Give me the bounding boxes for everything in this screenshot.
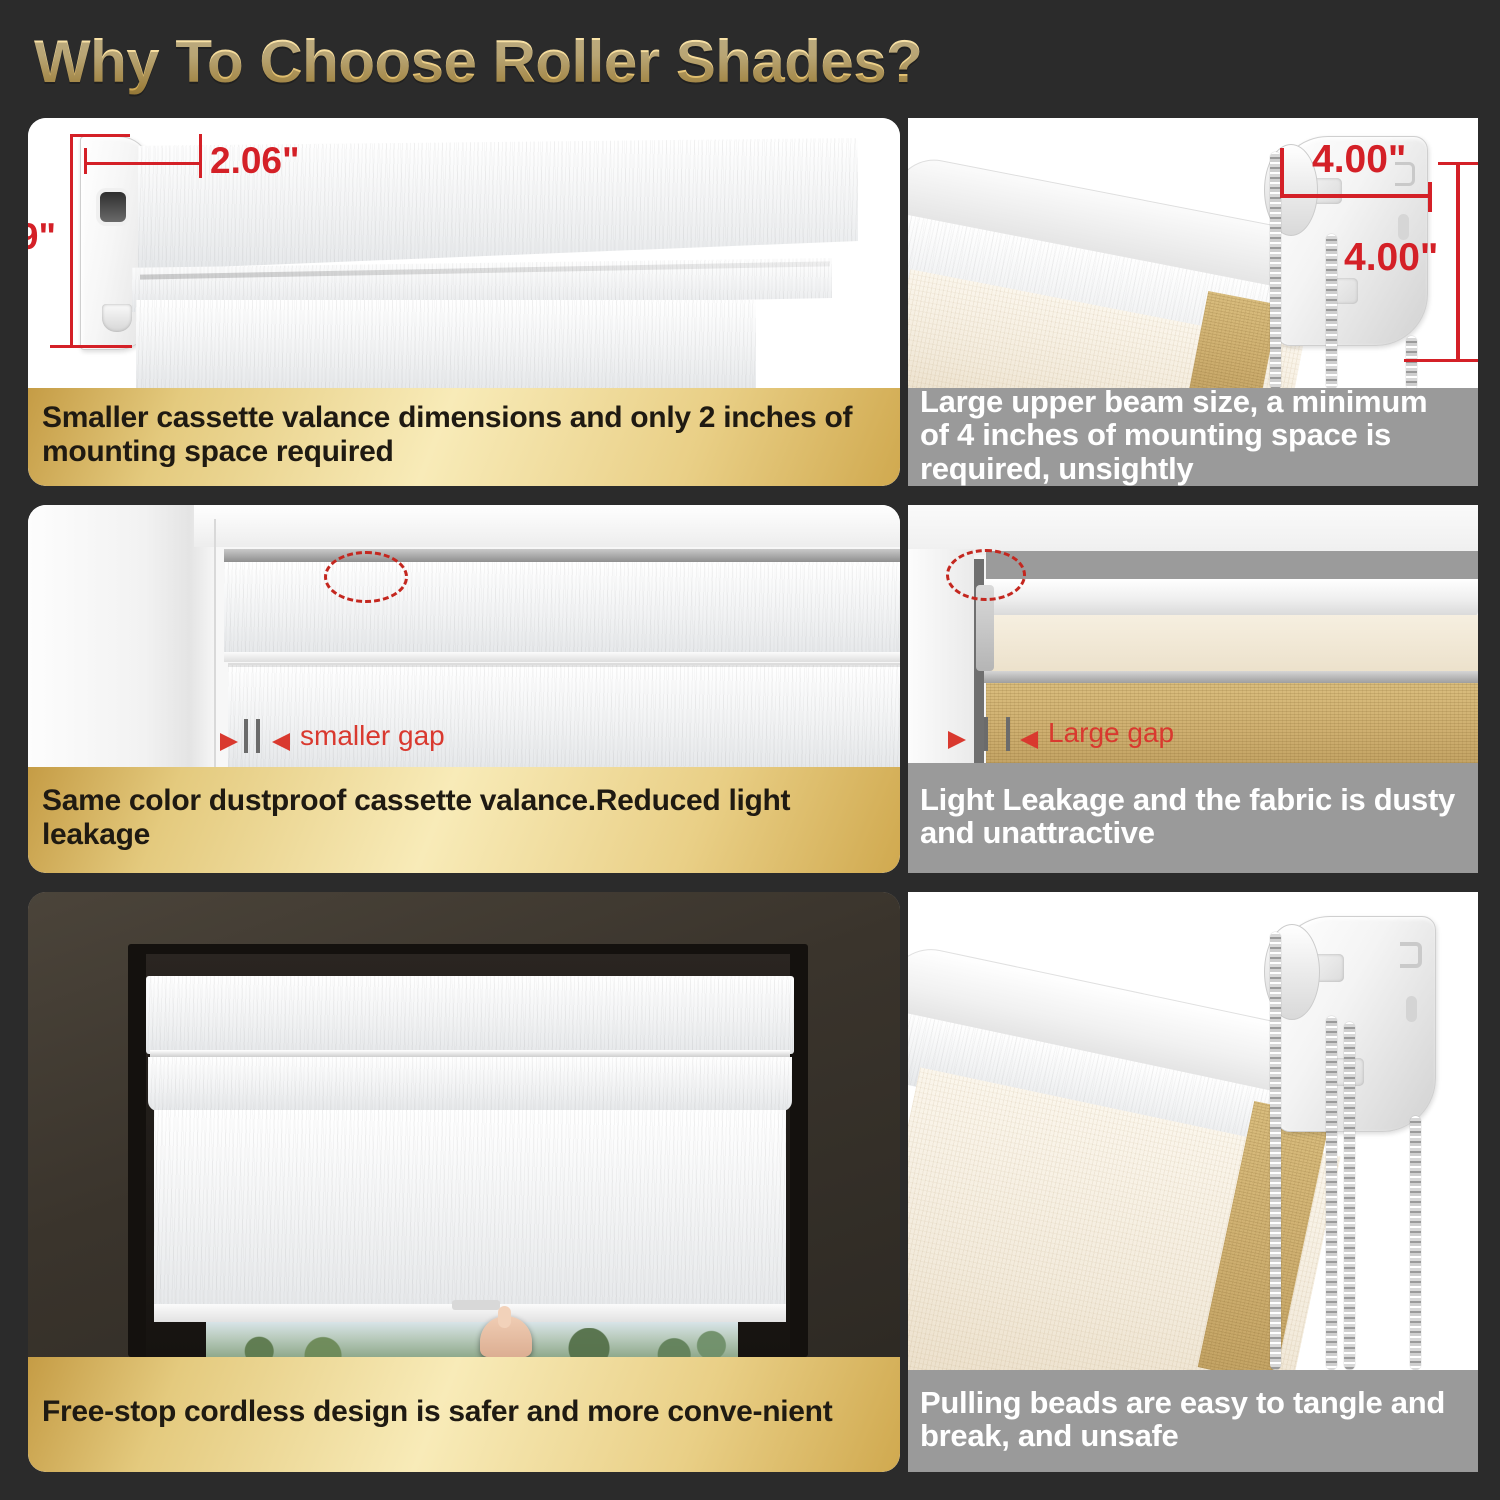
- dim-height-tick-bottom: [50, 345, 132, 348]
- dim-height-tick-top: [70, 134, 130, 137]
- panel-3-photo: smaller gap: [28, 505, 900, 767]
- dim-side-label: 4.00": [1344, 236, 1438, 280]
- panel-4-caption-text: Light Leakage and the fabric is dusty an…: [920, 783, 1464, 850]
- bead-chain-long-1[interactable]: [1270, 932, 1281, 1370]
- dim-top-label: 4.00": [1312, 138, 1406, 182]
- bead-chain-3[interactable]: [1406, 336, 1417, 390]
- window-frame-top: [194, 505, 900, 547]
- valance-bottom-edge: [224, 652, 900, 662]
- fabric-bottom-rail: [980, 671, 1478, 683]
- panel-1-caption-bar: Smaller cassette valance dimensions and …: [28, 388, 900, 486]
- dim-side-tick-bottom: [1404, 359, 1478, 362]
- dim-height-line: [70, 134, 73, 348]
- wall-area: [908, 505, 1478, 555]
- large-gap-tick-a: [984, 717, 988, 751]
- dim-side-line: [1456, 162, 1460, 362]
- panel-light-leakage: Large gap Light Leakage and the fabric i…: [908, 505, 1478, 873]
- panel-6-caption-text: Pulling beads are easy to tangle and bre…: [920, 1386, 1464, 1453]
- gap-highlight-circle: [324, 551, 408, 603]
- valance-headrail: [146, 976, 794, 1054]
- panel-5-photo: [28, 892, 900, 1357]
- large-gap-arrow-left-icon: [948, 731, 966, 749]
- panel-6-caption-bar: Pulling beads are easy to tangle and bre…: [908, 1370, 1478, 1472]
- gap-highlight-ellipse: [946, 549, 1026, 601]
- panel-3-caption-bar: Same color dustproof cassette valance.Re…: [28, 767, 900, 873]
- dim-side-tick-top: [1438, 162, 1478, 165]
- large-gap-label: Large gap: [1048, 717, 1174, 749]
- bead-chain-long-2[interactable]: [1326, 1016, 1337, 1370]
- title-bar: Why To Choose Roller Shades?: [34, 22, 1134, 102]
- dim-width-label: 2.06": [210, 140, 300, 182]
- roller-tube-bar: [984, 579, 1478, 617]
- hand-finger-icon: [498, 1306, 511, 1328]
- end-cap-lower-knob-icon: [102, 304, 132, 332]
- panel-dustproof-valance: smaller gap Same color dustproof cassett…: [28, 505, 900, 873]
- beige-fabric-band: [980, 615, 1478, 673]
- dim-height-label: 5.49": [28, 216, 56, 258]
- panel-3-caption-text: Same color dustproof cassette valance.Re…: [42, 784, 886, 852]
- panel-4-caption-bar: Light Leakage and the fabric is dusty an…: [908, 763, 1478, 873]
- panel-1-caption-text: Smaller cassette valance dimensions and …: [42, 401, 886, 469]
- fabric-fold-line: [228, 663, 900, 667]
- page-title: Why To Choose Roller Shades?: [34, 22, 1134, 102]
- panel-2-caption-text: Large upper beam size, a minimum of 4 in…: [920, 385, 1464, 485]
- dim-width-tick-right: [199, 134, 202, 178]
- panel-large-upper-beam: 4.00" 4.00" Large upper beam size, a min…: [908, 118, 1478, 486]
- gap-tick-a: [244, 719, 248, 753]
- dim-width-line: [84, 162, 202, 165]
- headrail-bar: [224, 549, 900, 562]
- bead-chain-long-3[interactable]: [1344, 1022, 1355, 1370]
- shade-fabric-top: [136, 300, 756, 390]
- panel-2-photo: 4.00" 4.00": [908, 118, 1478, 390]
- panel-cordless-design: Free-stop cordless design is safer and m…: [28, 892, 900, 1472]
- panel-4-photo: Large gap: [908, 505, 1478, 763]
- gap-arrow-left-icon: [220, 733, 238, 751]
- dim-top-tick-left: [1280, 148, 1284, 198]
- gap-arrow-right-icon: [272, 733, 290, 751]
- bead-chain-long-4[interactable]: [1410, 1116, 1421, 1370]
- valance-seam-line: [150, 1050, 790, 1057]
- window-frame-left: [28, 505, 216, 767]
- smaller-gap-label: smaller gap: [300, 720, 445, 752]
- frame-bevel-line: [214, 519, 216, 767]
- valance-lower-lip: [148, 1057, 792, 1111]
- panel-5-caption-text: Free-stop cordless design is safer and m…: [42, 1395, 832, 1429]
- panel-2-caption-bar: Large upper beam size, a minimum of 4 in…: [908, 388, 1478, 486]
- shade-pull-tab-icon: [452, 1300, 500, 1310]
- end-cap-slot-icon: [100, 192, 126, 222]
- bracket-notch-icon-2: [1406, 996, 1417, 1022]
- panel-1-photo: 2.06" 5.49": [28, 118, 900, 390]
- tree-foliage: [206, 1328, 738, 1357]
- panel-6-photo: [908, 892, 1478, 1370]
- shade-fabric-main: [154, 1110, 786, 1310]
- gap-tick-b: [256, 719, 260, 753]
- bracket-notch-icon-1: [1400, 942, 1422, 968]
- large-gap-tick-b: [1006, 717, 1010, 751]
- panel-pulling-beads: Pulling beads are easy to tangle and bre…: [908, 892, 1478, 1472]
- large-gap-arrow-right-icon: [1020, 731, 1038, 749]
- panel-smaller-cassette: 2.06" 5.49" Smaller cassette valance dim…: [28, 118, 900, 486]
- dim-width-tick-left: [84, 148, 87, 174]
- bead-chain-2[interactable]: [1326, 234, 1337, 390]
- panel-5-caption-bar: Free-stop cordless design is safer and m…: [28, 1357, 900, 1472]
- dim-top-tick-right: [1428, 182, 1432, 212]
- dim-top-line: [1280, 194, 1432, 198]
